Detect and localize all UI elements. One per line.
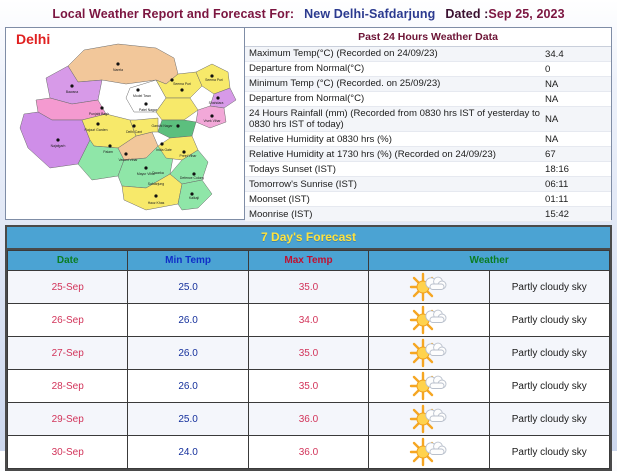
svg-text:India Gate: India Gate xyxy=(156,148,172,152)
past-24-label: Departure from Normal(°C) xyxy=(245,62,545,75)
past-24-row: 24 Hours Rainfall (mm) (Recorded from 08… xyxy=(245,107,611,132)
cell-min-temp: 25.0 xyxy=(128,271,248,304)
column-header-min-temp: Min Temp xyxy=(128,251,248,271)
cell-weather-description: Partly cloudy sky xyxy=(489,403,609,436)
cell-weather-description: Partly cloudy sky xyxy=(489,370,609,403)
page-title: Local Weather Report and Forecast For: N… xyxy=(0,0,617,27)
svg-text:Narela: Narela xyxy=(113,68,123,72)
table-row: 26-Sep26.034.0 Partly cloudy sky xyxy=(8,304,610,337)
past-24-value: 06:11 xyxy=(545,178,611,191)
svg-text:Palam: Palam xyxy=(103,150,113,154)
past-24-label: Moonset (IST) xyxy=(245,193,545,206)
past-24-row: Relative Humidity at 0830 hrs (%)NA xyxy=(245,132,611,147)
svg-text:Mayur Vihar: Mayur Vihar xyxy=(137,172,156,176)
past-24-value: 0 xyxy=(545,63,611,76)
svg-text:Preet Vihar: Preet Vihar xyxy=(180,154,198,158)
title-date: Sep 25, 2023 xyxy=(488,7,564,21)
cell-max-temp: 35.0 xyxy=(248,337,368,370)
cell-max-temp: 34.0 xyxy=(248,304,368,337)
past-24-heading: Past 24 Hours Weather Data xyxy=(245,28,611,47)
table-row: 27-Sep26.035.0 Partly cloudy sky xyxy=(8,337,610,370)
past-24-row: Departure from Normal(°C)NA xyxy=(245,92,611,107)
past-24-row: Relative Humidity at 1730 hrs (%) (Recor… xyxy=(245,147,611,162)
cell-weather-description: Partly cloudy sky xyxy=(489,337,609,370)
cell-date: 26-Sep xyxy=(8,304,128,337)
cell-weather-description: Partly cloudy sky xyxy=(489,436,609,469)
weather-report-page: Local Weather Report and Forecast For: N… xyxy=(0,0,617,451)
cell-date: 25-Sep xyxy=(8,271,128,304)
table-row: 28-Sep26.035.0 Partly cloudy sky xyxy=(8,370,610,403)
cell-min-temp: 24.0 xyxy=(128,436,248,469)
past-24-label: 24 Hours Rainfall (mm) (Recorded from 08… xyxy=(245,107,545,131)
past-24-label: Departure from Normal(°C) xyxy=(245,92,545,105)
cell-max-temp: 36.0 xyxy=(248,436,368,469)
cell-weather-description: Partly cloudy sky xyxy=(489,271,609,304)
table-row: 30-Sep24.036.0 Partly cloudy sky xyxy=(8,436,610,469)
svg-text:Safdarjung: Safdarjung xyxy=(148,182,165,186)
past-24-rows: Maximum Temp(°C) (Recorded on 24/09/23)3… xyxy=(245,47,611,222)
cell-max-temp: 35.0 xyxy=(248,370,368,403)
past-24-row: Moonset (IST)01:11 xyxy=(245,192,611,207)
past-24-value: 67 xyxy=(545,148,611,161)
past-24-label: Todays Sunset (IST) xyxy=(245,163,545,176)
forecast-title: 7 Day's Forecast xyxy=(7,227,610,250)
column-header-weather: Weather xyxy=(369,251,610,271)
past-24-row: Todays Sunset (IST)18:16 xyxy=(245,162,611,177)
cell-min-temp: 26.0 xyxy=(128,337,248,370)
svg-text:Vivek Vihar: Vivek Vihar xyxy=(203,119,221,123)
forecast-header-row: Date Min Temp Max Temp Weather xyxy=(8,251,610,271)
past-24-value: 18:16 xyxy=(545,163,611,176)
sun-behind-cloud-icon xyxy=(369,304,489,337)
past-24-row: Moonrise (IST)15:42 xyxy=(245,207,611,222)
svg-text:Model Town: Model Town xyxy=(133,94,151,98)
past-24-hours-panel: Past 24 Hours Weather Data Maximum Temp(… xyxy=(245,28,611,219)
svg-text:Gandhi Nagar: Gandhi Nagar xyxy=(151,124,173,128)
forecast-table: Date Min Temp Max Temp Weather 25-Sep25.… xyxy=(7,250,610,469)
past-24-row: Minimum Temp (°C) (Recorded. on 25/09/23… xyxy=(245,77,611,92)
past-24-row: Tomorrow's Sunrise (IST)06:11 xyxy=(245,177,611,192)
sun-behind-cloud-icon xyxy=(369,271,489,304)
sun-behind-cloud-icon xyxy=(369,337,489,370)
svg-text:Rajouri Garden: Rajouri Garden xyxy=(85,128,108,132)
svg-text:Hauz Khas: Hauz Khas xyxy=(148,201,165,205)
top-section: Delhi xyxy=(5,27,612,220)
svg-text:Defence Colony: Defence Colony xyxy=(180,176,204,180)
past-24-value: NA xyxy=(545,93,611,106)
past-24-value: 01:11 xyxy=(545,193,611,206)
column-header-max-temp: Max Temp xyxy=(248,251,368,271)
title-station: New Delhi-Safdarjung xyxy=(304,7,435,21)
svg-text:Vasant Vihar: Vasant Vihar xyxy=(118,158,138,162)
past-24-value: 15:42 xyxy=(545,208,611,221)
column-header-date: Date xyxy=(8,251,128,271)
delhi-map-svg: Narela Bawana Punjabi Bagh Rajouri Garde… xyxy=(6,28,244,219)
svg-text:Seema Puri: Seema Puri xyxy=(173,82,191,86)
past-24-label: Tomorrow's Sunrise (IST) xyxy=(245,178,545,191)
svg-text:Bawana: Bawana xyxy=(66,90,78,94)
table-row: 25-Sep25.035.0 Partly cloudy sky xyxy=(8,271,610,304)
past-24-label: Moonrise (IST) xyxy=(245,208,545,221)
map-heading: Delhi xyxy=(16,31,50,47)
cell-date: 30-Sep xyxy=(8,436,128,469)
past-24-label: Relative Humidity at 0830 hrs (%) xyxy=(245,133,545,146)
cell-date: 29-Sep xyxy=(8,403,128,436)
cell-min-temp: 26.0 xyxy=(128,370,248,403)
cell-min-temp: 26.0 xyxy=(128,304,248,337)
cell-max-temp: 36.0 xyxy=(248,403,368,436)
svg-text:Najafgarh: Najafgarh xyxy=(51,144,66,148)
past-24-row: Departure from Normal(°C)0 xyxy=(245,62,611,77)
cell-weather-description: Partly cloudy sky xyxy=(489,304,609,337)
past-24-value: NA xyxy=(545,133,611,146)
cell-date: 28-Sep xyxy=(8,370,128,403)
title-main: Local Weather Report and Forecast For: xyxy=(52,7,294,21)
table-row: 29-Sep25.036.0 Partly cloudy sky xyxy=(8,403,610,436)
delhi-map: Delhi xyxy=(6,28,245,219)
past-24-label: Maximum Temp(°C) (Recorded on 24/09/23) xyxy=(245,47,545,60)
svg-text:Kalkaji: Kalkaji xyxy=(189,196,199,200)
title-dated-label: Dated : xyxy=(445,7,488,21)
sun-behind-cloud-icon xyxy=(369,436,489,469)
cell-max-temp: 35.0 xyxy=(248,271,368,304)
past-24-label: Minimum Temp (°C) (Recorded. on 25/09/23… xyxy=(245,77,545,90)
forecast-body: 25-Sep25.035.0 Partly cloudy sky26-Sep26… xyxy=(8,271,610,469)
past-24-row: Maximum Temp(°C) (Recorded on 24/09/23)3… xyxy=(245,47,611,62)
past-24-value: 34.4 xyxy=(545,48,611,61)
cell-min-temp: 25.0 xyxy=(128,403,248,436)
sun-behind-cloud-icon xyxy=(369,403,489,436)
svg-text:Punjabi Bagh: Punjabi Bagh xyxy=(89,112,109,116)
sun-behind-cloud-icon xyxy=(369,370,489,403)
svg-text:Patel Nagar: Patel Nagar xyxy=(139,108,158,112)
past-24-label: Relative Humidity at 1730 hrs (%) (Recor… xyxy=(245,148,545,161)
forecast-panel: 7 Day's Forecast Date Min Temp Max Temp … xyxy=(5,225,612,471)
past-24-value: NA xyxy=(545,113,611,126)
svg-text:Delhi Cant: Delhi Cant xyxy=(126,130,142,134)
past-24-value: NA xyxy=(545,78,611,91)
svg-text:Shahdara: Shahdara xyxy=(209,101,224,105)
cell-date: 27-Sep xyxy=(8,337,128,370)
svg-text:Seema Puri: Seema Puri xyxy=(205,78,223,82)
